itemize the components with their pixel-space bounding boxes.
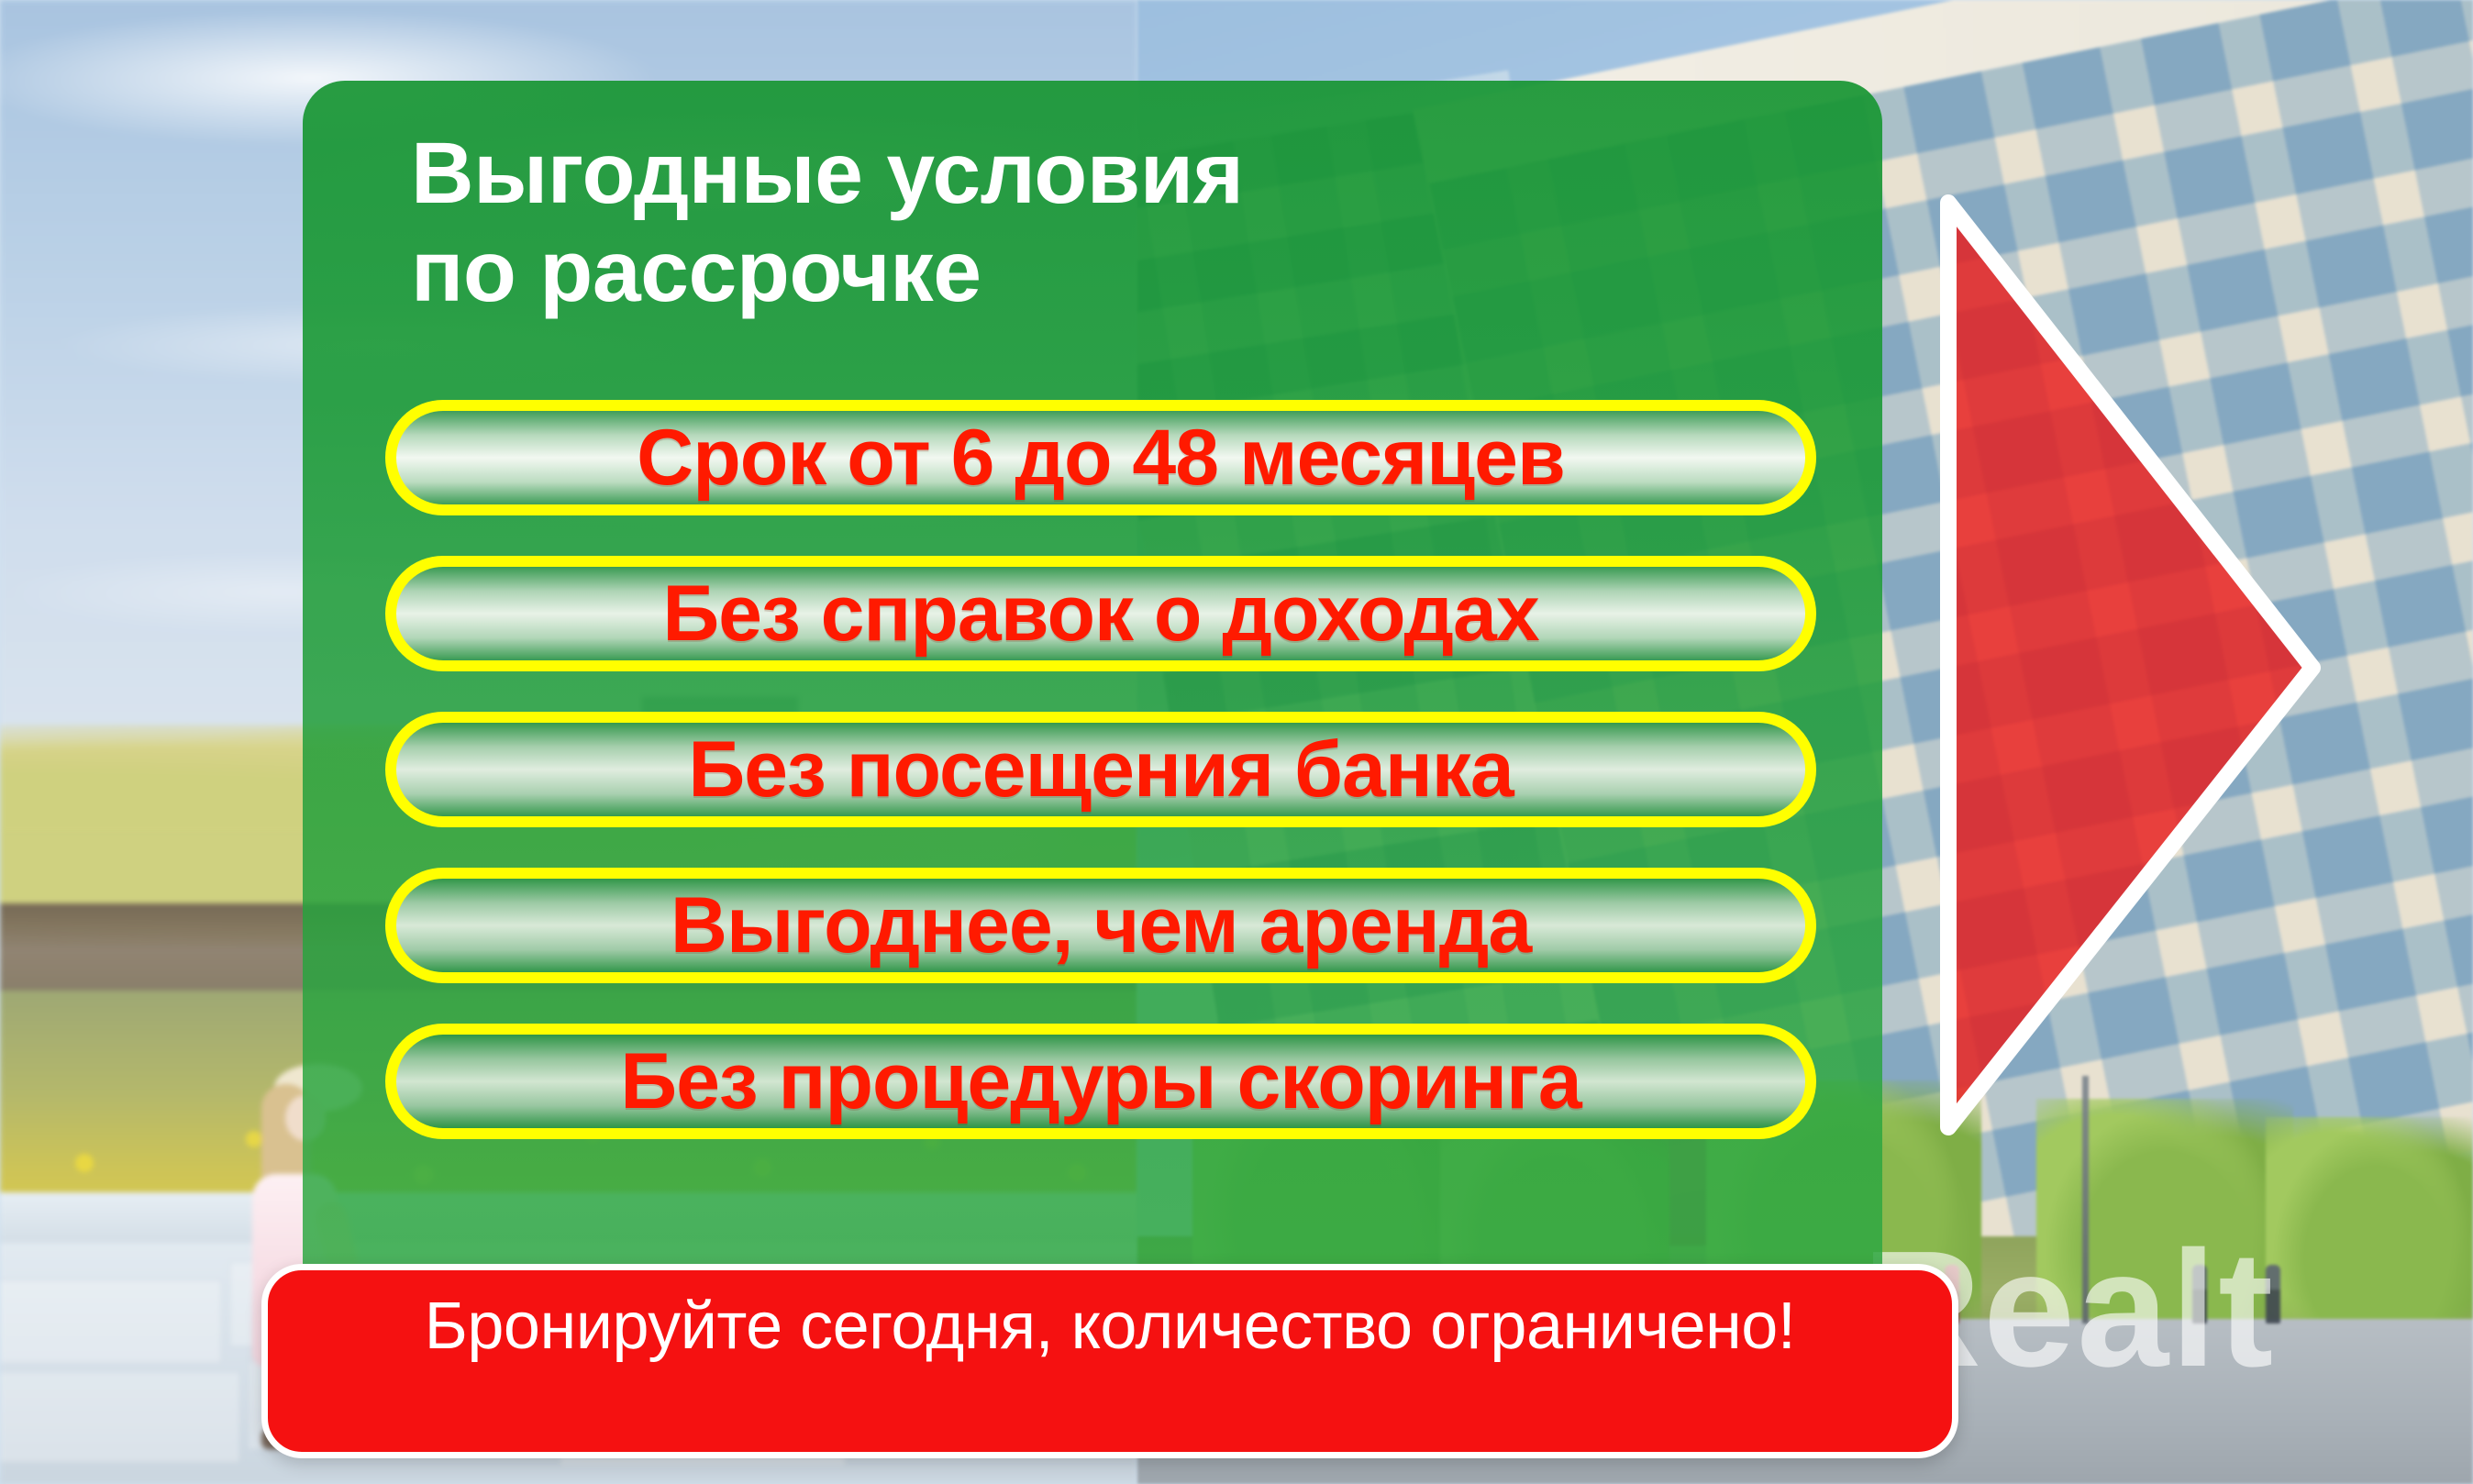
feature-pill-label: Без процедуры скоринга [620,1036,1580,1127]
promo-banner: Realt Выгодные условия по рассрочке Срок… [0,0,2473,1484]
feature-pill-term[interactable]: Срок от 6 до 48 месяцев [385,400,1816,515]
feature-pill-no-bank-visit[interactable]: Без посещения банка [385,712,1816,827]
feature-pill-no-scoring[interactable]: Без процедуры скоринга [385,1024,1816,1139]
cta-label: Бронируйте сегодня, количество ограничен… [425,1290,1796,1363]
feature-pill-label: Выгоднее, чем аренда [671,880,1531,971]
feature-pill-label: Срок от 6 до 48 месяцев [637,413,1565,504]
feature-pill-label: Без справок о доходах [662,569,1538,659]
cta-banner[interactable]: Бронируйте сегодня, количество ограничен… [261,1264,1958,1458]
page-title: Выгодные условия по рассрочке [411,125,1787,322]
feature-pill-cheaper-than-rent[interactable]: Выгоднее, чем аренда [385,868,1816,983]
feature-pill-no-income-proof[interactable]: Без справок о доходах [385,556,1816,671]
paver [0,1371,240,1463]
paver [0,1279,222,1364]
feature-list: Срок от 6 до 48 месяцев Без справок о до… [385,400,1816,1139]
offer-panel: Выгодные условия по рассрочке Срок от 6 … [303,81,1882,1266]
feature-pill-label: Без посещения банка [688,725,1513,815]
